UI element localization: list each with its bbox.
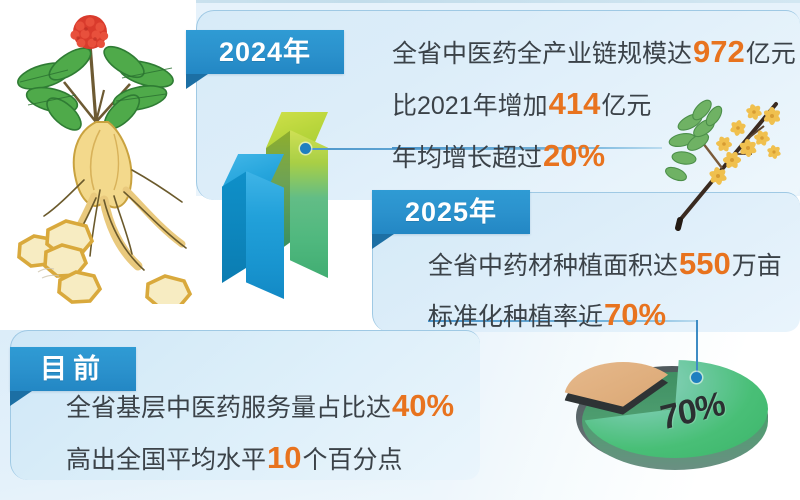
connector-dot-2025 [691, 372, 702, 383]
stat-line: 标准化种植率近70% [428, 299, 782, 330]
infographic-canvas: 70% 2024年 2025年 目前 全省中医药全产业链规模达972亿元 比20… [0, 0, 800, 500]
stat-prefix: 比2021年增加 [392, 92, 548, 120]
stat-suffix: 亿元 [601, 92, 651, 120]
stat-number: 550 [678, 246, 732, 281]
stat-suffix: 万亩 [732, 252, 782, 280]
stat-line: 年均增长超过20% [392, 140, 796, 171]
bar-2021-front [246, 171, 284, 299]
connector-dot-2024 [300, 143, 311, 154]
pie-chart-3d: 70% [554, 330, 772, 490]
stat-prefix: 年均增长超过 [392, 144, 542, 172]
stat-line: 比2021年增加414亿元 [392, 88, 796, 119]
badge-2024[interactable]: 2024年 [186, 30, 344, 74]
stat-suffix: 个百分点 [303, 446, 403, 474]
stat-number: 70% [603, 297, 667, 332]
stat-line: 高出全国平均水平10个百分点 [66, 442, 455, 473]
badge-now[interactable]: 目前 [10, 347, 136, 391]
bar-2021-side [222, 171, 247, 283]
stat-line: 全省中医药全产业链规模达972亿元 [392, 36, 796, 67]
stat-number: 20% [542, 138, 606, 173]
stat-number: 40% [391, 388, 455, 423]
stat-line: 全省基层中医药服务量占比达40% [66, 390, 455, 421]
stat-number: 10 [266, 440, 302, 475]
badge-now-label: 目前 [40, 356, 106, 383]
text-block-2024: 全省中医药全产业链规模达972亿元 比2021年增加414亿元 年均增长超过20… [392, 36, 796, 192]
ginseng-plant-icon [4, 4, 204, 304]
stat-prefix: 全省基层中医药服务量占比达 [66, 394, 391, 422]
stat-number: 414 [548, 86, 602, 121]
bar-chart-3d [214, 112, 370, 284]
stat-line: 全省中药材种植面积达550万亩 [428, 248, 782, 279]
stat-prefix: 全省中药材种植面积达 [428, 252, 678, 280]
badge-2025-label: 2025年 [405, 199, 497, 226]
text-block-now: 全省基层中医药服务量占比达40% 高出全国平均水平10个百分点 [66, 390, 455, 494]
stat-suffix: 亿元 [746, 40, 796, 68]
text-block-2025: 全省中药材种植面积达550万亩 标准化种植率近70% [428, 248, 782, 350]
stat-number: 972 [692, 34, 746, 69]
badge-2024-label: 2024年 [219, 39, 311, 66]
badge-2025[interactable]: 2025年 [372, 190, 530, 234]
stat-prefix: 高出全国平均水平 [66, 446, 266, 474]
stat-prefix: 全省中医药全产业链规模达 [392, 40, 692, 68]
stat-prefix: 标准化种植率近 [428, 303, 603, 331]
